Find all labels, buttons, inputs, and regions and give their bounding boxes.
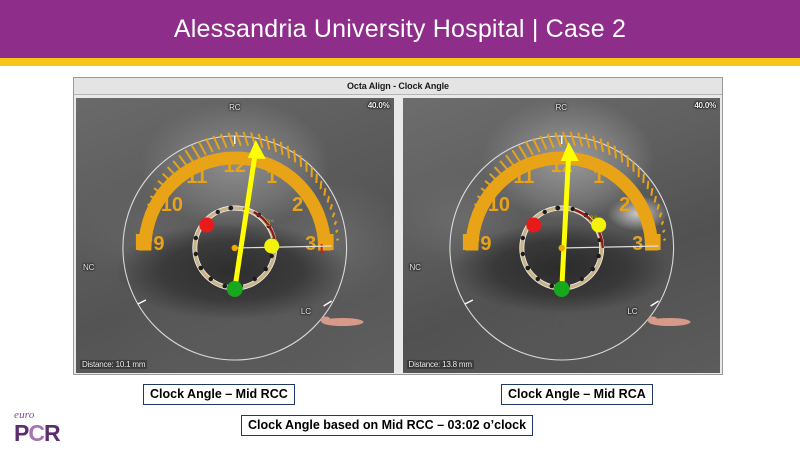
numeral-11: 11	[513, 166, 534, 188]
marker-green-icon	[553, 281, 569, 297]
logo-letter-r: R	[44, 420, 60, 446]
numeral-2: 2	[292, 194, 303, 216]
ct-pane-left[interactable]: 9 10 11 12 1 2 3	[76, 98, 394, 373]
ct-pane-right[interactable]: 9 10 11 12 1 2 3	[403, 98, 721, 373]
clock-numerals-right: 9 10 11 12 1 2 3	[480, 155, 643, 255]
clock-numerals-left: 9 10 11 12 1 2 3	[153, 155, 316, 255]
cusp-label-lc: LC	[627, 307, 637, 316]
caption-left: Clock Angle – Mid RCC	[143, 384, 295, 405]
clock-angle-overlay-left: 9 10 11 12 1 2 3	[76, 98, 394, 373]
zoom-level-label: 40.0%	[368, 101, 390, 110]
numeral-1: 1	[266, 166, 277, 188]
distance-label: Distance: 10.1 mm	[80, 360, 147, 369]
viewer-panes: 9 10 11 12 1 2 3	[74, 96, 722, 375]
clock-angle-overlay-right: 9 10 11 12 1 2 3	[403, 98, 721, 373]
pointer-arrowhead-icon	[248, 140, 266, 159]
marker-red-icon	[526, 218, 541, 233]
page-title: Alessandria University Hospital | Case 2	[0, 0, 800, 58]
header-accent-rule	[0, 58, 800, 66]
angle-value-label: 3°	[266, 218, 275, 228]
cusp-label-nc: NC	[410, 263, 421, 272]
numeral-10: 10	[487, 194, 509, 216]
numeral-10: 10	[161, 194, 183, 216]
cusp-label-nc: NC	[83, 263, 94, 272]
numeral-12: 12	[224, 155, 246, 177]
caption-right: Clock Angle – Mid RCA	[501, 384, 653, 405]
reference-line-icon	[561, 246, 658, 248]
reference-line-icon	[235, 246, 332, 248]
viewer-title: Octa Align - Clock Angle	[347, 81, 449, 91]
calcium-speck-icon	[321, 317, 364, 327]
cusp-tick-nc-icon	[138, 300, 146, 304]
marker-green-icon	[227, 281, 243, 297]
caption-bottom: Clock Angle based on Mid RCC – 03:02 o’c…	[241, 415, 533, 436]
centre-marker-icon	[558, 245, 564, 251]
numeral-3: 3	[632, 233, 643, 255]
numeral-2: 2	[619, 194, 630, 216]
europcr-logo: euro PCR	[14, 410, 76, 448]
cusp-label-rc: RC	[556, 103, 567, 112]
logo-letter-p: P	[14, 420, 28, 446]
logo-letter-c: C	[28, 420, 44, 446]
marker-yellow-icon	[264, 239, 279, 254]
numeral-1: 1	[593, 166, 604, 188]
pointer-arrowhead-icon	[560, 142, 578, 161]
numeral-9: 9	[153, 233, 164, 255]
cusp-tick-nc-icon	[464, 300, 472, 304]
marker-red-icon	[199, 218, 214, 233]
marker-yellow-icon	[591, 218, 606, 233]
numeral-9: 9	[480, 233, 491, 255]
cusp-label-lc: LC	[301, 307, 311, 316]
numeral-11: 11	[186, 166, 207, 188]
calcium-speck-icon	[647, 317, 690, 327]
octa-align-viewer: Octa Align - Clock Angle	[73, 77, 723, 375]
numeral-3: 3	[305, 233, 316, 255]
viewer-titlebar: Octa Align - Clock Angle	[74, 78, 722, 95]
distance-label: Distance: 13.8 mm	[407, 360, 474, 369]
zoom-level-label: 40.0%	[694, 101, 716, 110]
logo-pcr-text: PCR	[14, 422, 76, 445]
centre-marker-icon	[232, 245, 238, 251]
cusp-label-rc: RC	[229, 103, 240, 112]
